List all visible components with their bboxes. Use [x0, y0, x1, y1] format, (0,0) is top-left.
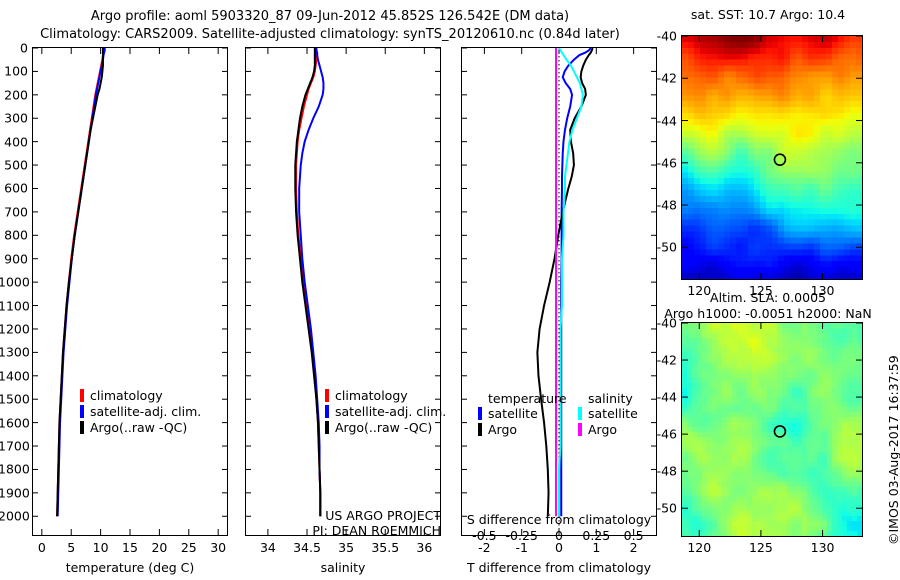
- axis-tick-label: 2: [630, 540, 638, 555]
- axis-tick-label: -1: [515, 540, 527, 555]
- legend-color-swatch: [80, 421, 84, 434]
- difference-legend-salinity: salinitysatelliteArgo: [578, 391, 638, 438]
- salinity-difference-label: S difference from climatology: [461, 512, 657, 527]
- legend-item: climatology: [80, 388, 201, 403]
- legend-label: satellite: [488, 407, 538, 420]
- salinity-legend: climatologysatellite-adj. clim.Argo(..ra…: [325, 388, 446, 436]
- axis-tick-label: 1300: [0, 345, 28, 360]
- axis-tick-label: -46: [649, 155, 677, 170]
- legend-color-swatch: [578, 423, 582, 436]
- salinity-axis-label: salinity: [245, 560, 441, 575]
- axis-tick-label: -44: [649, 113, 677, 128]
- axis-tick-label: 700: [0, 204, 28, 219]
- axis-tick-label: 500: [0, 158, 28, 173]
- legend-color-swatch: [325, 405, 329, 418]
- axis-tick-label: -48: [649, 198, 677, 213]
- legend-item: climatology: [325, 388, 446, 403]
- axis-tick-label: 120: [687, 540, 711, 555]
- imos-credit: ©IMOS 03-Aug-2017 16:37:59: [886, 355, 900, 545]
- legend-item: satellite-adj. clim.: [80, 404, 201, 419]
- legend-label: Argo(..raw -QC): [335, 421, 432, 434]
- legend-label: Argo(..raw -QC): [90, 421, 187, 434]
- axis-tick-label: 0: [0, 41, 28, 56]
- axis-tick-label: 10: [93, 540, 109, 555]
- sla-title-line-2: Argo h1000: -0.0051 h2000: NaN: [663, 306, 873, 322]
- legend-item: Argo: [578, 422, 638, 437]
- legend-label: Argo: [488, 423, 517, 436]
- axis-tick-label: 20: [151, 540, 167, 555]
- temperature-axis-label: temperature (deg C): [32, 560, 228, 575]
- axis-tick-label: 400: [0, 134, 28, 149]
- axis-tick-label: 34.5: [293, 540, 321, 555]
- axis-tick-label: 1200: [0, 321, 28, 336]
- axis-tick-label: 1900: [0, 485, 28, 500]
- temperature-legend: climatologysatellite-adj. clim.Argo(..ra…: [80, 388, 201, 436]
- credit-line-1: US ARGO PROJECT: [241, 508, 441, 523]
- axis-tick-label: 1600: [0, 415, 28, 430]
- difference-profile-plot: [462, 48, 656, 535]
- legend-color-swatch: [325, 389, 329, 402]
- axis-tick-label: -42: [649, 353, 677, 368]
- legend-color-swatch: [478, 407, 482, 420]
- axis-tick-label: 30: [210, 540, 226, 555]
- salinity-profile-panel: [245, 47, 441, 536]
- legend-label: satellite-adj. clim.: [335, 405, 446, 418]
- legend-item: Argo: [478, 422, 567, 437]
- axis-tick-label: 2000: [0, 509, 28, 524]
- sla-map-title: Altim. SLA: 0.0005 Argo h1000: -0.0051 h…: [663, 290, 873, 323]
- axis-tick-label: 200: [0, 87, 28, 102]
- legend-item: Argo(..raw -QC): [325, 420, 446, 435]
- legend-color-swatch: [80, 389, 84, 402]
- axis-tick-label: -48: [649, 464, 677, 479]
- legend-item: satellite: [478, 406, 567, 421]
- difference-profile-panel: [461, 47, 657, 536]
- salinity-profile-plot: [246, 48, 440, 535]
- axis-tick-label: -46: [649, 427, 677, 442]
- sst-map-plot: [682, 36, 862, 279]
- axis-tick-label: 1800: [0, 462, 28, 477]
- legend-group-title: salinity: [588, 391, 638, 406]
- temperature-profile-panel: [32, 47, 228, 536]
- legend-item: Argo(..raw -QC): [80, 420, 201, 435]
- temperature-difference-label: T difference from climatology: [455, 560, 663, 575]
- axis-tick-label: -42: [649, 71, 677, 86]
- axis-tick-label: -40: [649, 29, 677, 44]
- axis-tick-label: 1500: [0, 392, 28, 407]
- axis-tick-label: 35: [338, 540, 354, 555]
- axis-tick-label: 15: [122, 540, 138, 555]
- legend-label: satellite-adj. clim.: [90, 405, 201, 418]
- legend-color-swatch: [478, 423, 482, 436]
- title-line-1: Argo profile: aoml 5903320_87 09-Jun-201…: [0, 8, 660, 26]
- axis-tick-label: 36: [416, 540, 432, 555]
- title-line-2: Climatology: CARS2009. Satellite-adjuste…: [0, 26, 660, 44]
- project-credit: US ARGO PROJECT PI: DEAN ROEMMICH: [241, 508, 441, 538]
- legend-item: satellite-adj. clim.: [325, 404, 446, 419]
- axis-tick-label: 1100: [0, 298, 28, 313]
- legend-label: climatology: [90, 389, 163, 402]
- axis-tick-label: 34: [260, 540, 276, 555]
- legend-label: climatology: [335, 389, 408, 402]
- axis-tick-label: 900: [0, 251, 28, 266]
- axis-tick-label: 25: [181, 540, 197, 555]
- axis-tick-label: 5: [67, 540, 75, 555]
- legend-color-swatch: [80, 405, 84, 418]
- axis-tick-label: 1: [592, 540, 600, 555]
- sla-title-line-1: Altim. SLA: 0.0005: [663, 290, 873, 306]
- axis-tick-label: 1000: [0, 275, 28, 290]
- axis-tick-label: 1700: [0, 439, 28, 454]
- axis-tick-label: 35.5: [371, 540, 399, 555]
- legend-item: satellite: [578, 406, 638, 421]
- axis-tick-label: 1400: [0, 368, 28, 383]
- axis-tick-label: 100: [0, 64, 28, 79]
- axis-tick-label: 300: [0, 111, 28, 126]
- credit-line-2: PI: DEAN ROEMMICH: [241, 523, 441, 538]
- axis-tick-label: 125: [749, 540, 773, 555]
- axis-tick-label: -44: [649, 390, 677, 405]
- axis-tick-label: -2: [478, 540, 490, 555]
- legend-color-swatch: [578, 407, 582, 420]
- legend-group-title: temperature: [488, 391, 567, 406]
- axis-tick-label: 130: [811, 540, 835, 555]
- axis-tick-label: -50: [649, 240, 677, 255]
- axis-tick-label: 800: [0, 228, 28, 243]
- axis-tick-label: -40: [649, 316, 677, 331]
- legend-label: satellite: [588, 407, 638, 420]
- axis-tick-label: 600: [0, 181, 28, 196]
- legend-label: Argo: [588, 423, 617, 436]
- axis-tick-label: 0: [38, 540, 46, 555]
- axis-tick-label: -50: [649, 501, 677, 516]
- difference-legend-temperature: temperaturesatelliteArgo: [478, 391, 567, 438]
- sla-map-plot: [682, 323, 862, 536]
- figure-title: Argo profile: aoml 5903320_87 09-Jun-201…: [0, 8, 660, 43]
- sla-map-panel: [681, 322, 863, 537]
- sst-map-title: sat. SST: 10.7 Argo: 10.4: [668, 7, 868, 23]
- legend-color-swatch: [325, 421, 329, 434]
- sst-map-panel: [681, 35, 863, 280]
- temperature-profile-plot: [33, 48, 227, 535]
- axis-tick-label: 0: [555, 540, 563, 555]
